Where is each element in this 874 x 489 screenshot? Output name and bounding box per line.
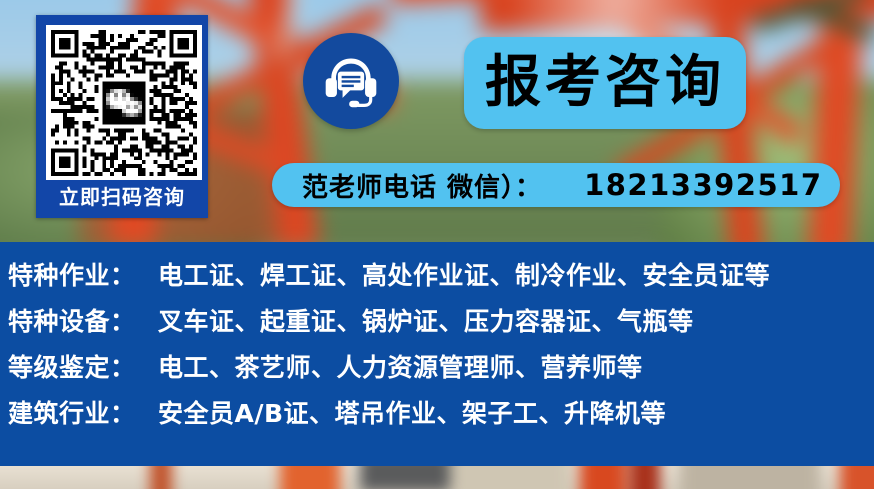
category-label: 等级鉴定： [8,348,158,384]
category-items: 安全员A/B证、塔吊作业、架子工、升降机等 [158,394,874,430]
certificate-list-panel: 特种作业： 电工证、焊工证、高处作业证、制冷作业、安全员证等 特种设备： 叉车证… [0,242,874,466]
consult-cta-label: 报考咨询 [485,55,725,111]
list-item: 特种设备： 叉车证、起重证、锅炉证、压力容器证、气瓶等 [0,302,874,348]
headset-support-icon [321,51,381,111]
category-label: 建筑行业： [8,394,158,430]
category-label: 特种作业： [8,256,158,292]
qr-code-image[interactable] [46,25,202,180]
contact-phone-banner[interactable]: 范老师电话 微信）： 18213392517 [272,163,840,207]
category-items: 电工证、焊工证、高处作业证、制冷作业、安全员证等 [158,256,874,292]
support-badge[interactable] [303,33,399,129]
qr-code-canvas [51,30,197,176]
qr-code-card[interactable]: 立即扫码咨询 [36,15,208,218]
contact-label: 范老师电话 微信）： [302,167,542,204]
qr-caption: 立即扫码咨询 [40,178,204,212]
list-item: 建筑行业： 安全员A/B证、塔吊作业、架子工、升降机等 [0,394,874,440]
bottom-photo-strip [0,466,874,489]
consult-cta-button[interactable]: 报考咨询 [464,37,746,129]
category-label: 特种设备： [8,302,158,338]
contact-number[interactable]: 18213392517 [584,168,822,202]
promo-poster: 立即扫码咨询 报考咨询 范老师电话 微信）： 18213392517 特种作业：… [0,0,874,489]
list-item: 特种作业： 电工证、焊工证、高处作业证、制冷作业、安全员证等 [0,256,874,302]
category-items: 电工、茶艺师、人力资源管理师、营养师等 [158,348,874,384]
category-items: 叉车证、起重证、锅炉证、压力容器证、气瓶等 [158,302,874,338]
list-item: 等级鉴定： 电工、茶艺师、人力资源管理师、营养师等 [0,348,874,394]
